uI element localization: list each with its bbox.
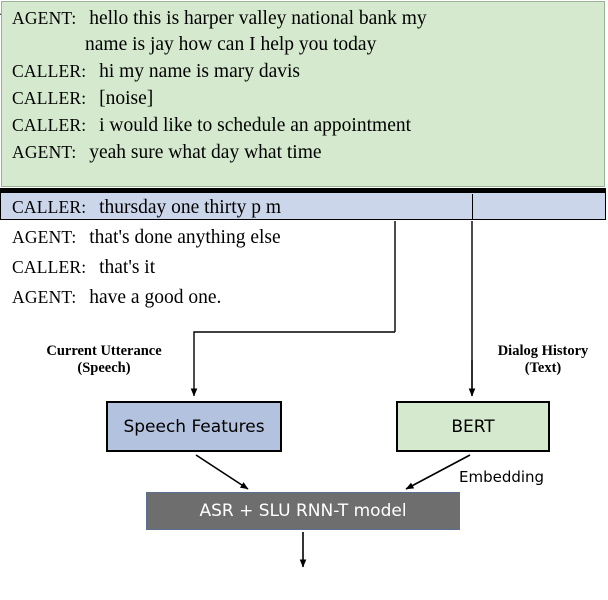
speaker-label: CALLER: (12, 257, 86, 277)
speaker-label: AGENT: (12, 287, 76, 307)
node-speech-features[interactable]: Speech Features (106, 401, 282, 452)
utterance-text: name is jay how can I help you today (85, 34, 376, 55)
speaker-label: CALLER: (12, 88, 86, 108)
utterance-text: [noise] (99, 88, 153, 109)
label-dialog-history-line2: (Text) (480, 360, 606, 377)
speaker-label: CALLER: (12, 115, 86, 135)
transcript-line: CALLER: that's it (12, 258, 155, 277)
utterance-text: hi my name is mary davis (99, 61, 300, 82)
utterance-text: hello this is harper valley national ban… (89, 8, 426, 29)
label-current-utterance-line1: Current Utterance (24, 343, 184, 360)
utterance-text: that's it (99, 257, 155, 278)
label-current-utterance: Current Utterance (Speech) (24, 343, 184, 377)
current-utterance-cell-divider (472, 194, 473, 220)
transcript-line: name is jay how can I help you today (85, 35, 376, 54)
speaker-label: CALLER: (12, 61, 86, 81)
node-asr-slu-rnnt-model[interactable]: ASR + SLU RNN-T model (146, 492, 460, 530)
utterance-text: thursday one thirty p m (99, 197, 281, 218)
transcript-line: CALLER: i would like to schedule an appo… (12, 116, 411, 135)
transcript-line: CALLER: hi my name is mary davis (12, 62, 300, 81)
node-speech-features-label: Speech Features (123, 417, 264, 437)
speaker-label: AGENT: (12, 142, 76, 162)
speaker-label: CALLER: (12, 197, 86, 217)
speaker-label: AGENT: (12, 227, 76, 247)
utterance-text: i would like to schedule an appointment (99, 115, 411, 136)
utterance-text: have a good one. (89, 287, 221, 308)
label-current-utterance-line2: (Speech) (24, 360, 184, 377)
transcript-line: AGENT: hello this is harper valley natio… (12, 9, 427, 28)
utterance-text: yeah sure what day what time (89, 142, 321, 163)
node-model-label: ASR + SLU RNN-T model (199, 501, 406, 521)
label-embedding: Embedding (459, 468, 544, 486)
label-dialog-history: Dialog History (Text) (480, 343, 606, 377)
transcript-line: AGENT: yeah sure what day what time (12, 143, 322, 162)
label-dialog-history-line1: Dialog History (480, 343, 606, 360)
transcript-line: CALLER: [noise] (12, 89, 153, 108)
current-utterance-line: CALLER: thursday one thirty p m (12, 198, 281, 217)
node-bert-label: BERT (451, 417, 494, 437)
arrow-speech-features-to-model (196, 455, 248, 489)
transcript-line: AGENT: that's done anything else (12, 228, 281, 247)
node-bert[interactable]: BERT (396, 401, 550, 452)
transcript-line: AGENT: have a good one. (12, 288, 221, 307)
diagram-canvas: AGENT: hello this is harper valley natio… (0, 0, 608, 600)
speaker-label: AGENT: (12, 8, 76, 28)
arrow-current-utterance-to-speech-features (194, 332, 395, 396)
utterance-text: that's done anything else (89, 227, 280, 248)
